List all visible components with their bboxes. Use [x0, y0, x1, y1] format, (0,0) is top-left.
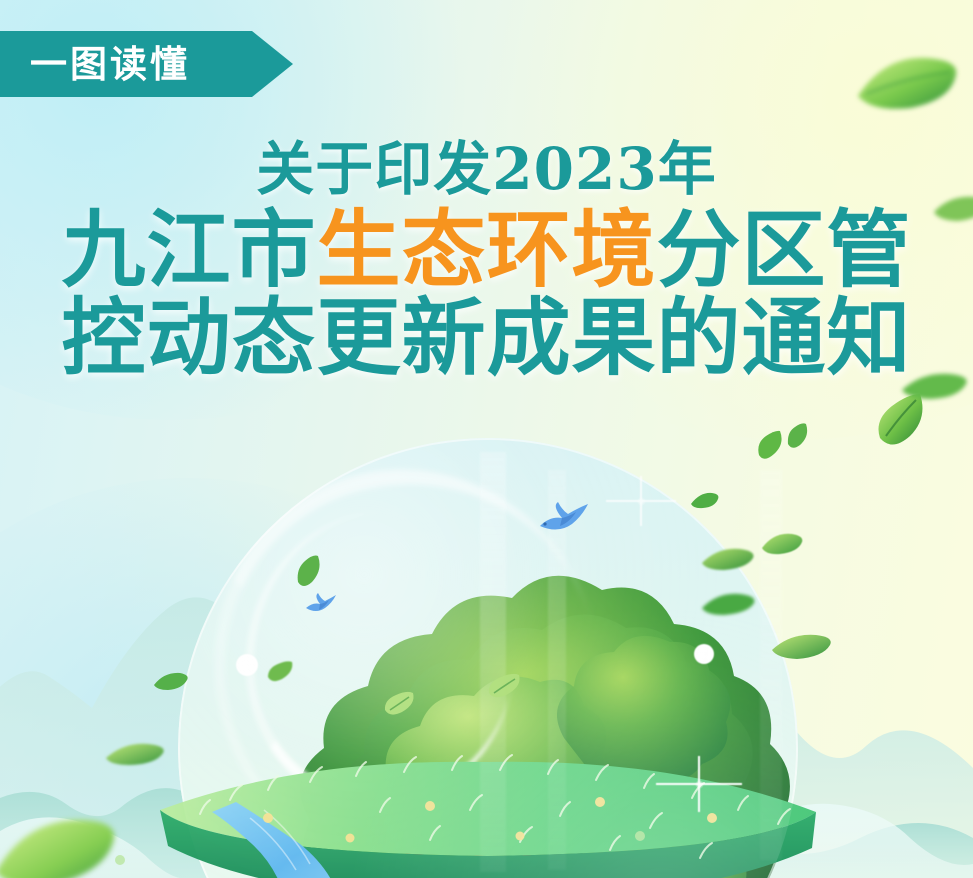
- dome-highlight-dot-left: [236, 654, 258, 676]
- leaf-icon-2: [874, 390, 926, 446]
- dome-highlight-dot-right: [694, 644, 714, 664]
- ribbon-label: 一图读懂: [30, 46, 190, 83]
- read-in-one-image-ribbon[interactable]: 一图读懂: [0, 31, 293, 97]
- leaf-icon-15: [0, 810, 120, 878]
- title-line-2-accent: 生态环境: [316, 200, 656, 299]
- glass-dome: [178, 438, 798, 878]
- leaf-icon-1: [852, 50, 964, 114]
- title-line-2: 九江市生态环境分区管: [0, 208, 973, 292]
- title-line-2-part2: 分区管: [657, 200, 912, 299]
- title-line-1: 关于印发2023年: [0, 140, 973, 198]
- title-line-3: 控动态更新成果的通知: [0, 296, 973, 380]
- title-line-2-part1: 九江市: [61, 200, 316, 299]
- leaf-icon-13: [104, 740, 168, 766]
- infographic-poster: 一图读懂 关于印发2023年 九江市生态环境分区管 控动态更新成果的通知: [0, 0, 973, 878]
- page-title: 关于印发2023年 九江市生态环境分区管 控动态更新成果的通知: [0, 140, 973, 380]
